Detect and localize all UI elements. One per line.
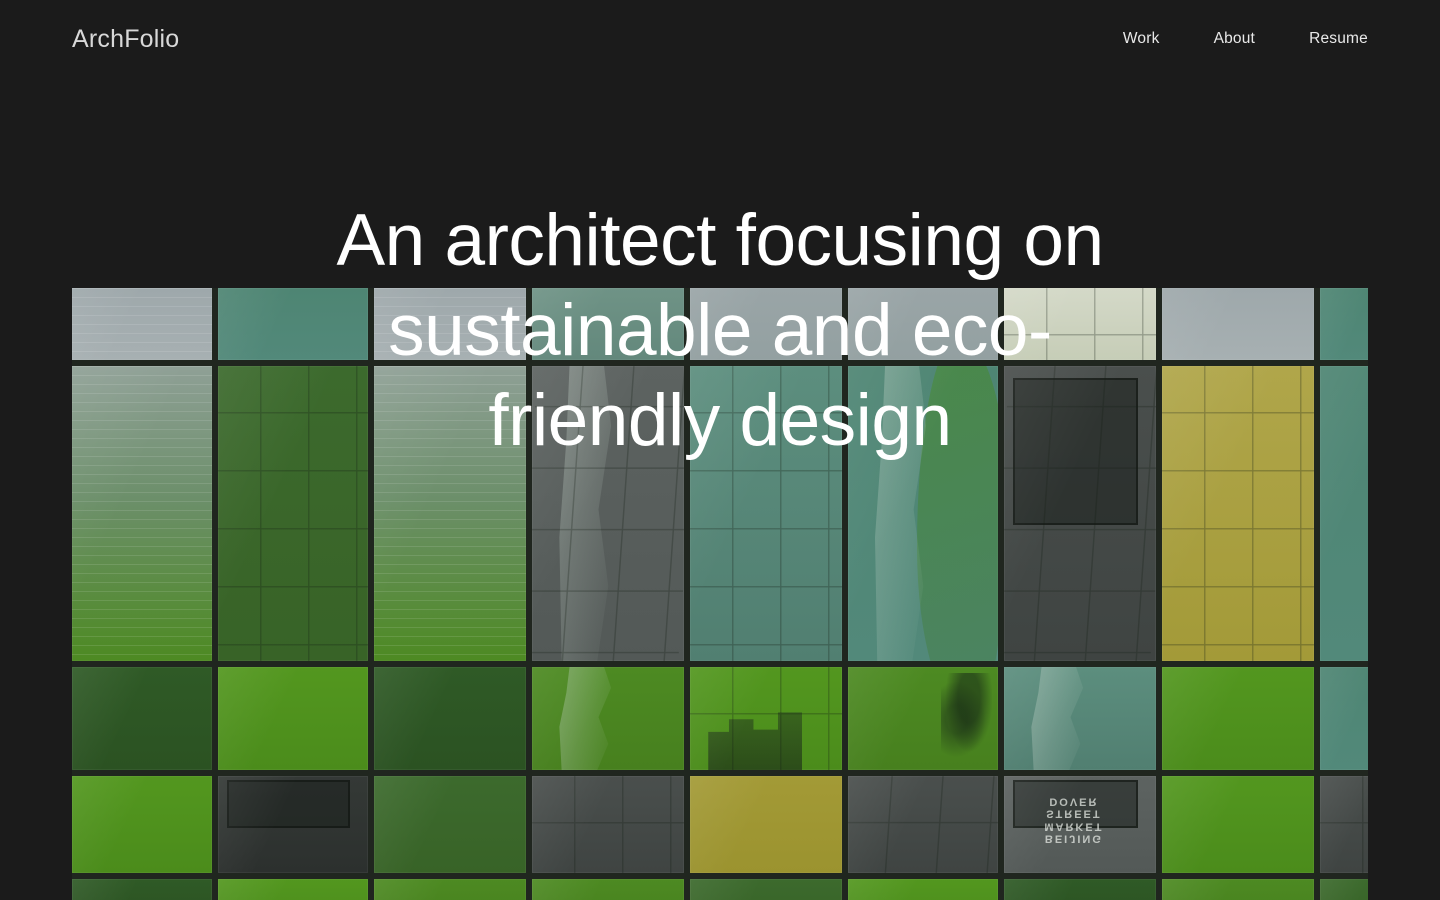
- glass-pane: [532, 667, 684, 770]
- hero-headline-line-1: An architect focusing on: [0, 196, 1440, 286]
- glass-pane: [374, 366, 526, 661]
- glass-pane: [374, 776, 526, 873]
- glass-pane: [1162, 879, 1314, 900]
- glass-pane: [218, 776, 368, 873]
- glass-pane: [532, 776, 684, 873]
- glass-pane: [72, 879, 212, 900]
- glass-pane: [1004, 667, 1156, 770]
- glass-pane: [374, 879, 526, 900]
- brand-logo[interactable]: ArchFolio: [72, 27, 179, 52]
- glass-pane: [690, 879, 842, 900]
- glass-pane: [1162, 288, 1314, 360]
- glass-pane: [1004, 879, 1156, 900]
- glass-pane: [1320, 667, 1368, 770]
- glass-pane: [848, 879, 998, 900]
- glass-panel-grid: BEIJING MARKET STREET DOVER: [72, 288, 1368, 900]
- glass-pane: [1004, 288, 1156, 360]
- glass-pane: [690, 288, 842, 360]
- hero-image: BEIJING MARKET STREET DOVER: [72, 288, 1368, 900]
- glass-pane: [72, 667, 212, 770]
- glass-pane: [848, 667, 998, 770]
- glass-pane: [72, 776, 212, 873]
- reflected-street-sign: BEIJING MARKET STREET DOVER: [1013, 792, 1135, 846]
- glass-pane: [1162, 776, 1314, 873]
- glass-pane: [1162, 366, 1314, 661]
- glass-pane: [690, 776, 842, 873]
- glass-pane: [532, 366, 684, 661]
- nav-link-work[interactable]: Work: [1123, 30, 1160, 48]
- glass-pane: [1004, 366, 1156, 661]
- glass-pane: [218, 667, 368, 770]
- glass-pane: [1320, 288, 1368, 360]
- glass-pane: [848, 366, 998, 661]
- glass-pane: [532, 879, 684, 900]
- page-root: ArchFolio Work About Resume: [0, 0, 1440, 900]
- main-navigation: Work About Resume: [1123, 30, 1368, 48]
- glass-pane: [72, 288, 212, 360]
- glass-pane: [218, 288, 368, 360]
- glass-pane: [374, 288, 526, 360]
- reflected-sign-line-3: STREET: [1046, 807, 1101, 819]
- nav-link-about[interactable]: About: [1214, 30, 1256, 48]
- nav-link-resume[interactable]: Resume: [1309, 30, 1368, 48]
- glass-pane: [374, 667, 526, 770]
- glass-pane: [218, 879, 368, 900]
- glass-pane: [690, 366, 842, 661]
- site-header: ArchFolio Work About Resume: [0, 0, 1440, 78]
- glass-pane: [1320, 879, 1368, 900]
- glass-pane: [690, 667, 842, 770]
- glass-pane: [532, 288, 684, 360]
- glass-pane: [1320, 776, 1368, 873]
- glass-pane: [848, 776, 998, 873]
- glass-pane: [218, 366, 368, 661]
- reflected-sign-line-2: MARKET: [1044, 819, 1103, 831]
- reflected-sign-line-1: BEIJING: [1045, 832, 1103, 844]
- glass-pane: [1320, 366, 1368, 661]
- reflected-sign-line-4: DOVER: [1049, 794, 1098, 806]
- glass-pane: [848, 288, 998, 360]
- glass-pane: [72, 366, 212, 661]
- glass-pane: [1162, 667, 1314, 770]
- glass-pane: BEIJING MARKET STREET DOVER: [1004, 776, 1156, 873]
